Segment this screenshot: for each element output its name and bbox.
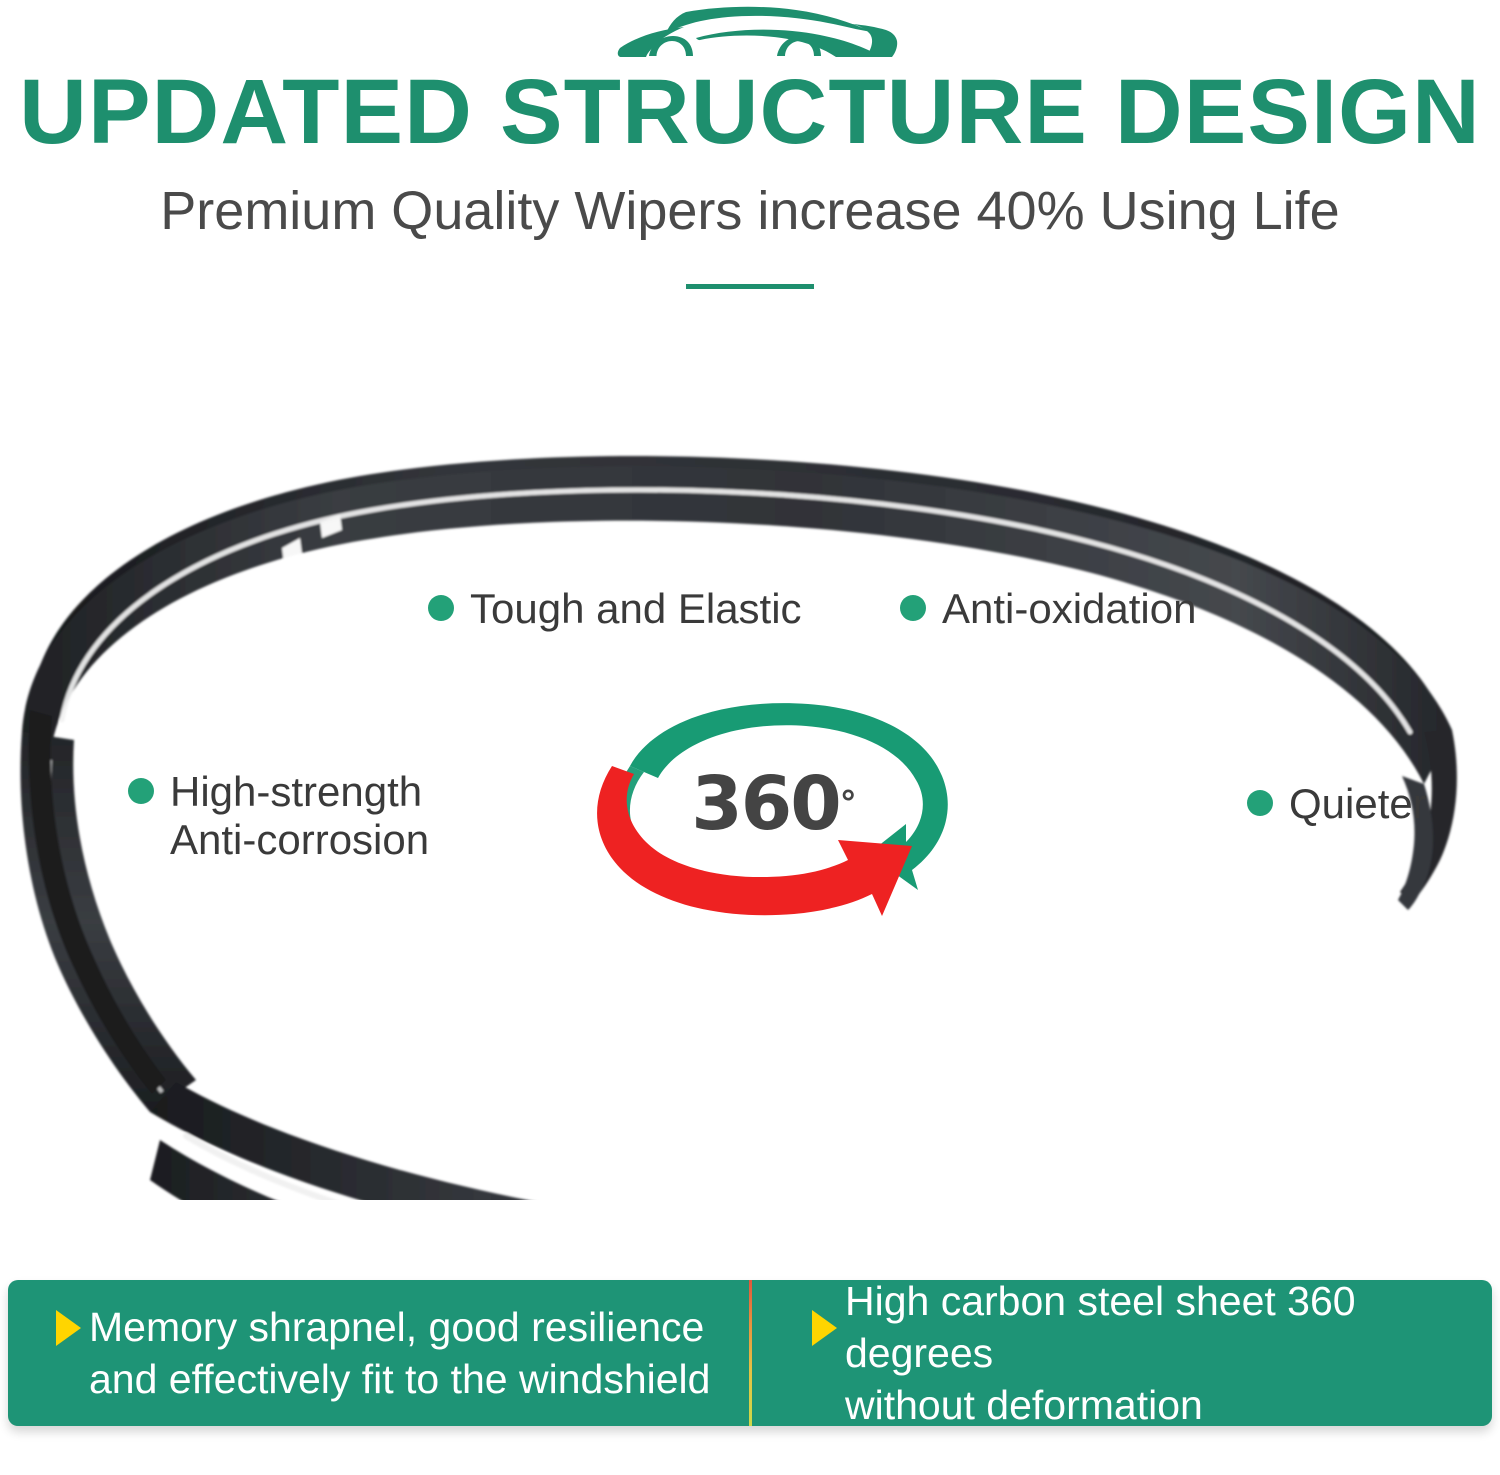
page-title: UPDATED STRUCTURE DESIGN bbox=[0, 62, 1500, 162]
callout-anti-oxidation: Anti-oxidation bbox=[900, 585, 1196, 633]
play-triangle-icon bbox=[812, 1310, 837, 1346]
bullet-dot-icon bbox=[900, 595, 926, 621]
banner-item-memory-shrapnel: Memory shrapnel, good resilience and eff… bbox=[8, 1280, 750, 1426]
play-triangle-icon bbox=[56, 1310, 81, 1346]
badge-360-degrees: 360° bbox=[576, 694, 956, 924]
brand-logo bbox=[0, 4, 1500, 66]
callout-label: Quieter bbox=[1289, 780, 1427, 828]
callout-label: Anti-oxidation bbox=[942, 585, 1196, 633]
product-infographic: UPDATED STRUCTURE DESIGN Premium Quality… bbox=[0, 0, 1500, 1475]
callout-label: High-strength Anti-corrosion bbox=[170, 768, 429, 864]
banner-text: High carbon steel sheet 360 degrees with… bbox=[845, 1280, 1492, 1426]
banner-item-high-carbon-steel: High carbon steel sheet 360 degrees with… bbox=[750, 1280, 1492, 1426]
bullet-dot-icon bbox=[128, 778, 154, 804]
page-subtitle: Premium Quality Wipers increase 40% Usin… bbox=[0, 178, 1500, 244]
banner-text: Memory shrapnel, good resilience and eff… bbox=[89, 1301, 710, 1405]
badge-360-text: 360° bbox=[576, 694, 956, 924]
callout-high-strength: High-strength Anti-corrosion bbox=[128, 768, 429, 864]
bullet-dot-icon bbox=[1247, 790, 1273, 816]
callout-label: Tough and Elastic bbox=[470, 585, 802, 633]
callout-tough-and-elastic: Tough and Elastic bbox=[428, 585, 802, 633]
title-divider bbox=[686, 284, 814, 289]
bullet-dot-icon bbox=[428, 595, 454, 621]
feature-banner: Memory shrapnel, good resilience and eff… bbox=[8, 1280, 1492, 1426]
sports-car-silhouette-icon bbox=[600, 4, 900, 66]
callout-quieter: Quieter bbox=[1247, 780, 1427, 828]
